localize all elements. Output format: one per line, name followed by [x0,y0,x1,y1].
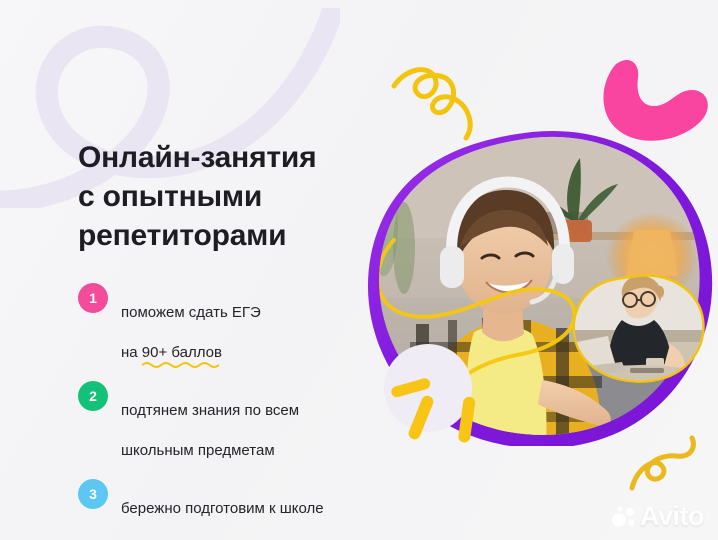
wavy-underline-icon [142,361,222,368]
highlighted-score: 90+ баллов [142,343,222,363]
page-title: Онлайн-занятия с опытными репетиторами [78,138,368,255]
list-item-text: бережно подготовим к школе [121,478,324,519]
list-item-text: поможем сдать ЕГЭ на 90+ баллов [121,282,261,363]
list-item-line1: бережно подготовим к школе [121,500,324,517]
avito-wordmark: Avito [640,503,704,530]
yellow-dash-cluster-decoration [378,338,503,450]
badge-number-3: 3 [78,479,108,509]
badge-number-2: 2 [78,381,108,411]
avito-dots-icon [611,504,637,530]
avito-watermark: Avito [611,503,704,530]
list-item-line1: подтянем знания по всем [121,402,299,419]
badge-number-1: 1 [78,283,108,313]
benefits-list: 1 поможем сдать ЕГЭ на 90+ баллов 2 подт… [78,282,388,519]
list-item: 2 подтянем знания по всем школьным предм… [78,380,388,461]
highlighted-score-text: 90+ баллов [142,344,222,361]
list-item: 1 поможем сдать ЕГЭ на 90+ баллов [78,282,388,363]
list-item-line2-prefix: школьным предметам [121,442,275,459]
promo-banner: Онлайн-занятия с опытными репетиторами 1… [0,0,718,540]
list-item: 3 бережно подготовим к школе [78,478,388,519]
list-item-text: подтянем знания по всем школьным предмет… [121,380,299,461]
list-item-line2-prefix: на [121,344,142,361]
list-item-line1: поможем сдать ЕГЭ [121,304,261,321]
